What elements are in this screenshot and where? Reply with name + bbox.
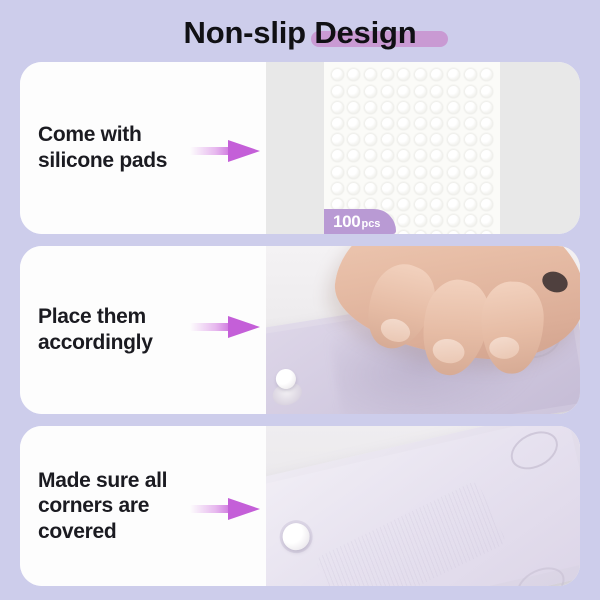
silicone-pad [381,133,394,146]
silicone-pad [447,214,460,227]
step-2-caption: Place them accordingly [20,304,157,355]
silicone-pad [480,230,493,234]
silicone-pad [381,101,394,114]
silicone-pad [430,166,443,179]
silicone-pad [331,101,344,114]
silicone-pad [414,166,427,179]
hand-placing-pad-photo [266,246,580,414]
step-card-3: Made sure all corners are covered [20,426,580,586]
silicone-pad [414,101,427,114]
silicone-pad [364,101,377,114]
silicone-pad [414,230,427,234]
quantity-badge: 100 pcs [324,209,396,234]
silicone-pad [430,117,443,130]
fingernail [489,337,519,359]
silicone-pad [381,198,394,211]
quantity-badge-unit: pcs [361,212,380,234]
silicone-pad [430,230,443,234]
silicone-pad [464,214,477,227]
silicone-pad [397,182,410,195]
silicone-pad [414,117,427,130]
silicone-pad [447,182,460,195]
silicone-pad [414,182,427,195]
silicone-pad [464,198,477,211]
silicone-pad [381,85,394,98]
silicone-pad [347,149,360,162]
step-3-caption: Made sure all corners are covered [20,468,171,545]
silicone-pad [430,198,443,211]
silicone-pad [397,85,410,98]
silicone-pad [364,85,377,98]
silicone-pad [364,68,377,81]
silicone-pad [430,182,443,195]
silicone-pad [347,68,360,81]
silicone-pad [381,166,394,179]
silicone-pad [397,214,410,227]
silicone-pad [447,133,460,146]
page-title-container: Non-slip Design [0,8,600,56]
silicone-pad [381,68,394,81]
silicone-pad [331,85,344,98]
step-2-text-pane: Place them accordingly [20,246,266,414]
silicone-pad [347,117,360,130]
silicone-pad [447,230,460,234]
silicone-pad [347,166,360,179]
silicone-pad [430,68,443,81]
silicone-pad [480,68,493,81]
silicone-pad-sheet: 100 pcs [324,62,500,234]
silicone-pad [364,166,377,179]
silicone-pad [364,117,377,130]
silicone-pad [397,166,410,179]
step-card-2: Place them accordingly [20,246,580,414]
silicone-pad [447,85,460,98]
silicone-pad [331,149,344,162]
silicone-pad [397,117,410,130]
silicone-pad [430,85,443,98]
silicone-pad [464,230,477,234]
arrow-right-icon [190,496,262,522]
silicone-pad [464,149,477,162]
silicone-pad [480,85,493,98]
silicone-pad [480,214,493,227]
silicone-pad [430,101,443,114]
silicone-pad [464,117,477,130]
silicone-pad [464,182,477,195]
silicone-pad [381,182,394,195]
silicone-pad [364,182,377,195]
silicone-pad [480,101,493,114]
silicone-pad [464,68,477,81]
step-3-image-pane [266,426,580,586]
step-1-caption: Come with silicone pads [20,122,171,173]
silicone-pad [480,166,493,179]
silicone-pad [464,133,477,146]
arrow-right-icon [190,138,262,164]
silicone-pad [480,198,493,211]
silicone-pad [414,214,427,227]
step-1-image-pane: 100 pcs [266,62,580,234]
silicone-pad [364,149,377,162]
silicone-pad [331,117,344,130]
silicone-pad [397,149,410,162]
silicone-pad [414,85,427,98]
silicone-pad [447,117,460,130]
page-title: Non-slip Design [184,17,417,48]
silicone-pad [447,198,460,211]
silicone-pad [414,149,427,162]
silicone-pad [414,133,427,146]
step-3-text-pane: Made sure all corners are covered [20,426,266,586]
silicone-pad [430,214,443,227]
step-card-1: Come with silicone pads 100 pcs [20,62,580,234]
silicone-pad [447,101,460,114]
silicone-pad [464,85,477,98]
step-2-image-pane [266,246,580,414]
silicone-pad [347,101,360,114]
step-1-text-pane: Come with silicone pads [20,62,266,234]
covered-corners-photo [266,426,580,586]
silicone-pad [464,101,477,114]
silicone-pad [397,230,410,234]
silicone-pad [464,166,477,179]
silicone-pad [397,198,410,211]
silicone-pad [397,101,410,114]
silicone-pad [397,133,410,146]
silicone-pad [447,166,460,179]
silicone-pad [381,149,394,162]
quantity-badge-count: 100 [333,209,360,234]
silicone-pad [414,198,427,211]
silicone-pad [447,68,460,81]
silicone-pad [480,117,493,130]
silicone-pad [331,182,344,195]
silicone-pad [364,133,377,146]
silicone-pad [480,182,493,195]
silicone-pad [414,68,427,81]
silicone-pad [331,68,344,81]
silicone-pad [480,133,493,146]
silicone-pad [347,182,360,195]
silicone-pad [447,149,460,162]
silicone-pad [331,166,344,179]
infographic-root: Non-slip Design Come with silicone pads [0,0,600,600]
silicone-pad [480,149,493,162]
silicone-pad [347,85,360,98]
silicone-pad [381,117,394,130]
silicone-pad [430,133,443,146]
silicone-pad [347,133,360,146]
silicone-pad [397,68,410,81]
arrow-right-icon [190,314,262,340]
silicone-pad [430,149,443,162]
silicone-pad [331,133,344,146]
